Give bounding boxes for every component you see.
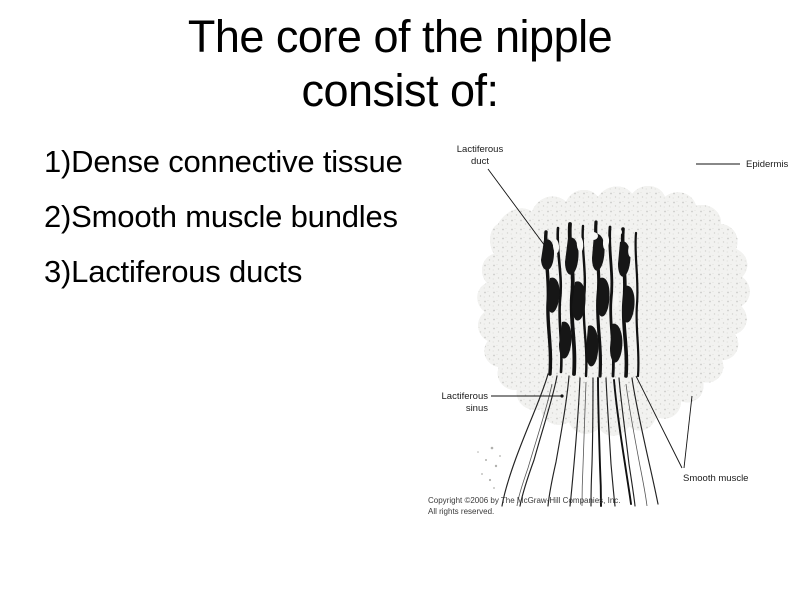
title-line-2: consist of:	[40, 64, 760, 118]
title-line-1: The core of the nipple	[40, 10, 760, 64]
list-item-line-2: ducts	[229, 254, 302, 289]
list-item-label: Dense connective tissue	[71, 143, 414, 181]
label-lactiferous-duct-line-2: duct	[471, 156, 489, 167]
list-item-line-2: connective tissue	[168, 144, 402, 179]
list-item: 1) Dense connective tissue	[44, 143, 414, 181]
list-item-line-1: Smooth muscle	[71, 199, 282, 234]
list-item-label: Smooth muscle bundles	[71, 198, 414, 236]
list-item-line-1: Dense	[71, 144, 160, 179]
leader-dot-lactiferous-sinus	[560, 394, 563, 397]
slide-canvas: The core of the nipple consist of: 1) De…	[0, 0, 800, 600]
list-item: 2) Smooth muscle bundles	[44, 198, 414, 236]
histology-figure: Lactiferous duct Epidermis Lactiferous s…	[420, 128, 800, 528]
list-item-marker: 1)	[44, 143, 71, 181]
label-lactiferous-sinus-line-1: Lactiferous	[442, 391, 489, 402]
label-smooth-muscle-text: Smooth muscle	[683, 473, 748, 484]
nipple-cross-section-image: Lactiferous duct Epidermis Lactiferous s…	[420, 128, 800, 528]
label-lactiferous-duct-line-1: Lactiferous	[457, 144, 504, 155]
label-lactiferous-sinus-line-2: sinus	[466, 403, 488, 414]
list-item-line-1: Lactiferous	[71, 254, 220, 289]
page-title: The core of the nipple consist of:	[40, 10, 760, 118]
list-item-marker: 2)	[44, 198, 71, 236]
copyright-line-1: Copyright ©2006 by The McGraw-Hill Compa…	[428, 496, 621, 505]
copyright-line-2: All rights reserved.	[428, 507, 494, 516]
list-item-marker: 3)	[44, 253, 71, 291]
label-epidermis-text: Epidermis	[746, 159, 788, 170]
list-item: 3) Lactiferous ducts	[44, 253, 414, 291]
list-item-line-2: bundles	[291, 199, 398, 234]
list-item-label: Lactiferous ducts	[71, 253, 414, 291]
bullet-list: 1) Dense connective tissue 2) Smooth mus…	[44, 143, 414, 308]
